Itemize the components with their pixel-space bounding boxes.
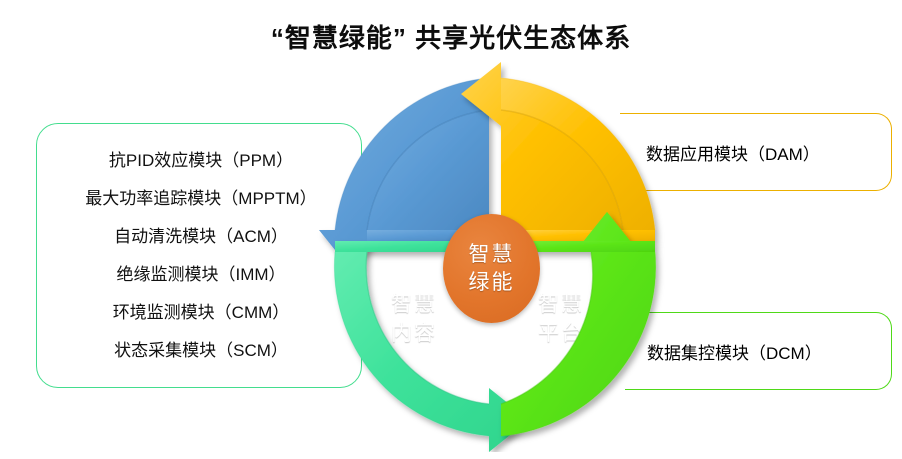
center-hub-line2: 绿能 <box>469 269 515 297</box>
center-hub: 智慧 绿能 <box>443 214 540 323</box>
center-hub-line1: 智慧 <box>469 241 515 269</box>
page-title: “智慧绿能” 共享光伏生态体系 <box>0 18 902 55</box>
